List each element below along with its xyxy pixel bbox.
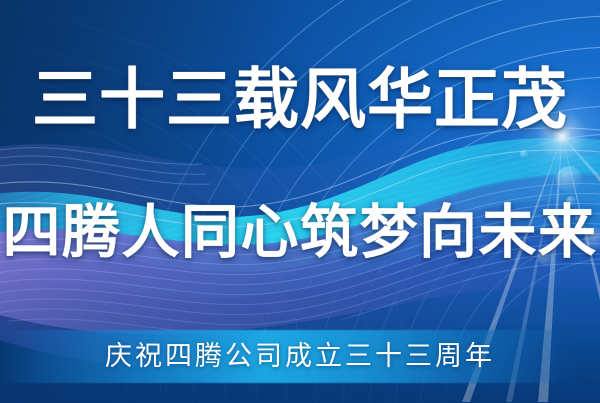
headline-line-2: 四腾人同心筑梦向未来 [0,198,600,266]
headline-line-1: 三十三载风华正茂 [0,62,600,138]
anniversary-poster: 三十三载风华正茂 四腾人同心筑梦向未来 庆祝四腾公司成立三十三周年 [0,0,600,403]
subtitle-text: 庆祝四腾公司成立三十三周年 [0,338,600,376]
